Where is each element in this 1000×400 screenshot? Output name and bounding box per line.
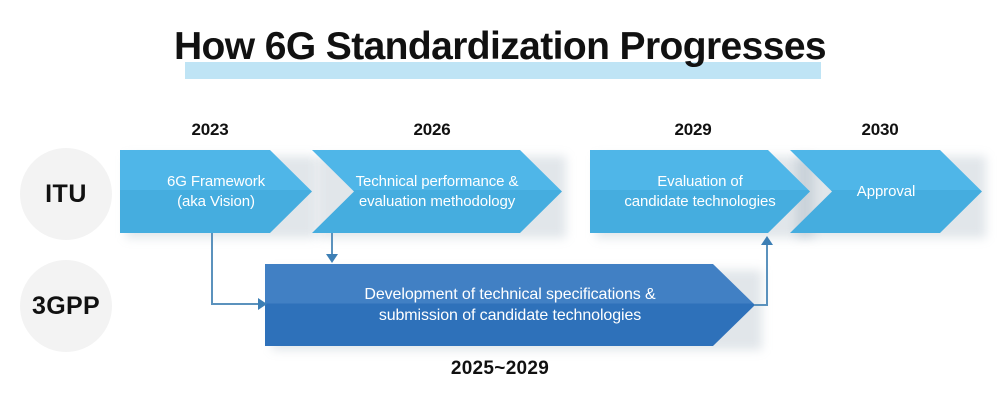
connector-arrowhead-down-icon — [326, 254, 338, 263]
stage-line-2: candidate technologies — [624, 192, 775, 212]
connector-framework-to-3gpp-vertical — [211, 233, 213, 305]
connector-feed-down-vertical — [331, 233, 333, 256]
gpp-range-label: 2025~2029 — [0, 358, 1000, 380]
itu-stage-evaluation[interactable]: Evaluation of candidate technologies — [590, 150, 810, 233]
stage-line-1: Approval — [857, 182, 915, 202]
lane-badge-3gpp: 3GPP — [20, 260, 112, 352]
page-title-wrap: How 6G Standardization Progresses — [0, 24, 1000, 70]
stage-line-1: Evaluation of — [624, 172, 775, 192]
stage-line-2: (aka Vision) — [167, 192, 265, 212]
year-label-2026: 2026 — [390, 120, 474, 140]
gpp-stage-development-label: Development of technical specifications … — [354, 284, 665, 327]
lane-badge-itu-label: ITU — [45, 180, 87, 209]
stage-line-1: Development of technical specifications … — [364, 284, 655, 305]
itu-stage-approval-label: Approval — [847, 182, 925, 202]
page-title: How 6G Standardization Progresses — [0, 24, 1000, 70]
stage-line-1: Technical performance & — [356, 172, 519, 192]
year-label-2030: 2030 — [838, 120, 922, 140]
stage-line-1: 6G Framework — [167, 172, 265, 192]
connector-framework-to-3gpp-horizontal — [211, 303, 263, 305]
itu-stage-technical-performance-label: Technical performance & evaluation metho… — [346, 172, 529, 212]
connector-arrowhead-right-icon — [258, 298, 267, 310]
gpp-stage-development[interactable]: Development of technical specifications … — [265, 264, 755, 346]
connector-3gpp-to-evaluation-vertical — [766, 244, 768, 305]
connector-arrowhead-up-icon — [761, 236, 773, 245]
year-label-2023: 2023 — [168, 120, 252, 140]
lane-badge-itu: ITU — [20, 148, 112, 240]
stage-line-2: submission of candidate technologies — [364, 305, 655, 326]
itu-stage-evaluation-label: Evaluation of candidate technologies — [614, 172, 785, 212]
lane-badge-3gpp-label: 3GPP — [32, 292, 100, 321]
year-label-2029: 2029 — [651, 120, 735, 140]
stage-line-2: evaluation methodology — [356, 192, 519, 212]
itu-stage-6g-framework-label: 6G Framework (aka Vision) — [157, 172, 275, 212]
